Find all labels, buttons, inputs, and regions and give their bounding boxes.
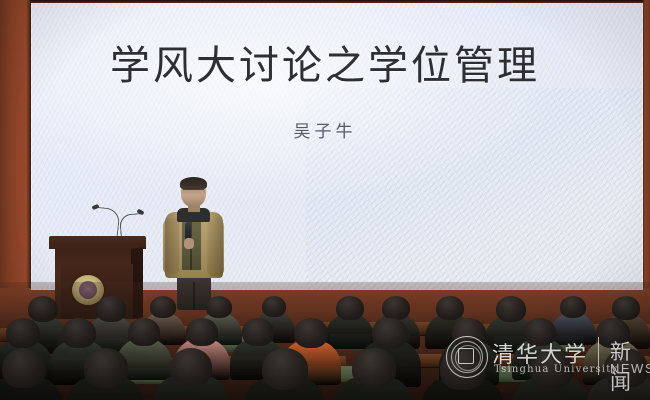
audience-person-head [128, 318, 160, 346]
audience-person-head [170, 348, 212, 386]
audience-person-head [372, 318, 408, 349]
audience-person-head [436, 296, 464, 320]
audience-person-head [186, 318, 218, 346]
speaker-glasses [183, 189, 204, 194]
audience-person-head [96, 296, 126, 322]
audience-person-head [6, 318, 40, 348]
audience-person-head [604, 348, 648, 388]
audience-person-head [84, 348, 128, 388]
audience-person-head [452, 318, 486, 348]
slide-subtitle: 吴子牛 [0, 117, 650, 142]
audience-person-head [206, 296, 232, 318]
audience-area [0, 282, 650, 400]
speaker-hand [184, 238, 194, 249]
audience-person-head [294, 318, 328, 348]
audience-person-head [596, 318, 630, 348]
audience-person-head [62, 318, 96, 348]
audience-person-head [382, 296, 410, 320]
audience-person-head [560, 296, 586, 318]
audience-person-head [352, 348, 396, 388]
audience-person-head [530, 348, 574, 388]
audience-person-head [524, 318, 556, 346]
audience-person-head [150, 296, 176, 318]
audience-person-head [28, 296, 58, 322]
lecture-photo: 学风大讨论之学位管理 吴子牛 清华大学 [0, 0, 650, 400]
slide-title: 学风大讨论之学位管理 [0, 44, 650, 88]
audience-person-head [612, 296, 640, 320]
audience-person-head [440, 348, 486, 390]
audience-person-head [262, 348, 308, 390]
audience-person-head [2, 348, 46, 388]
audience-person-head [336, 296, 364, 320]
audience-person-head [496, 296, 526, 322]
audience-person-head [242, 318, 274, 346]
audience-person-head [262, 296, 286, 317]
screen-top-edge [31, 0, 643, 3]
